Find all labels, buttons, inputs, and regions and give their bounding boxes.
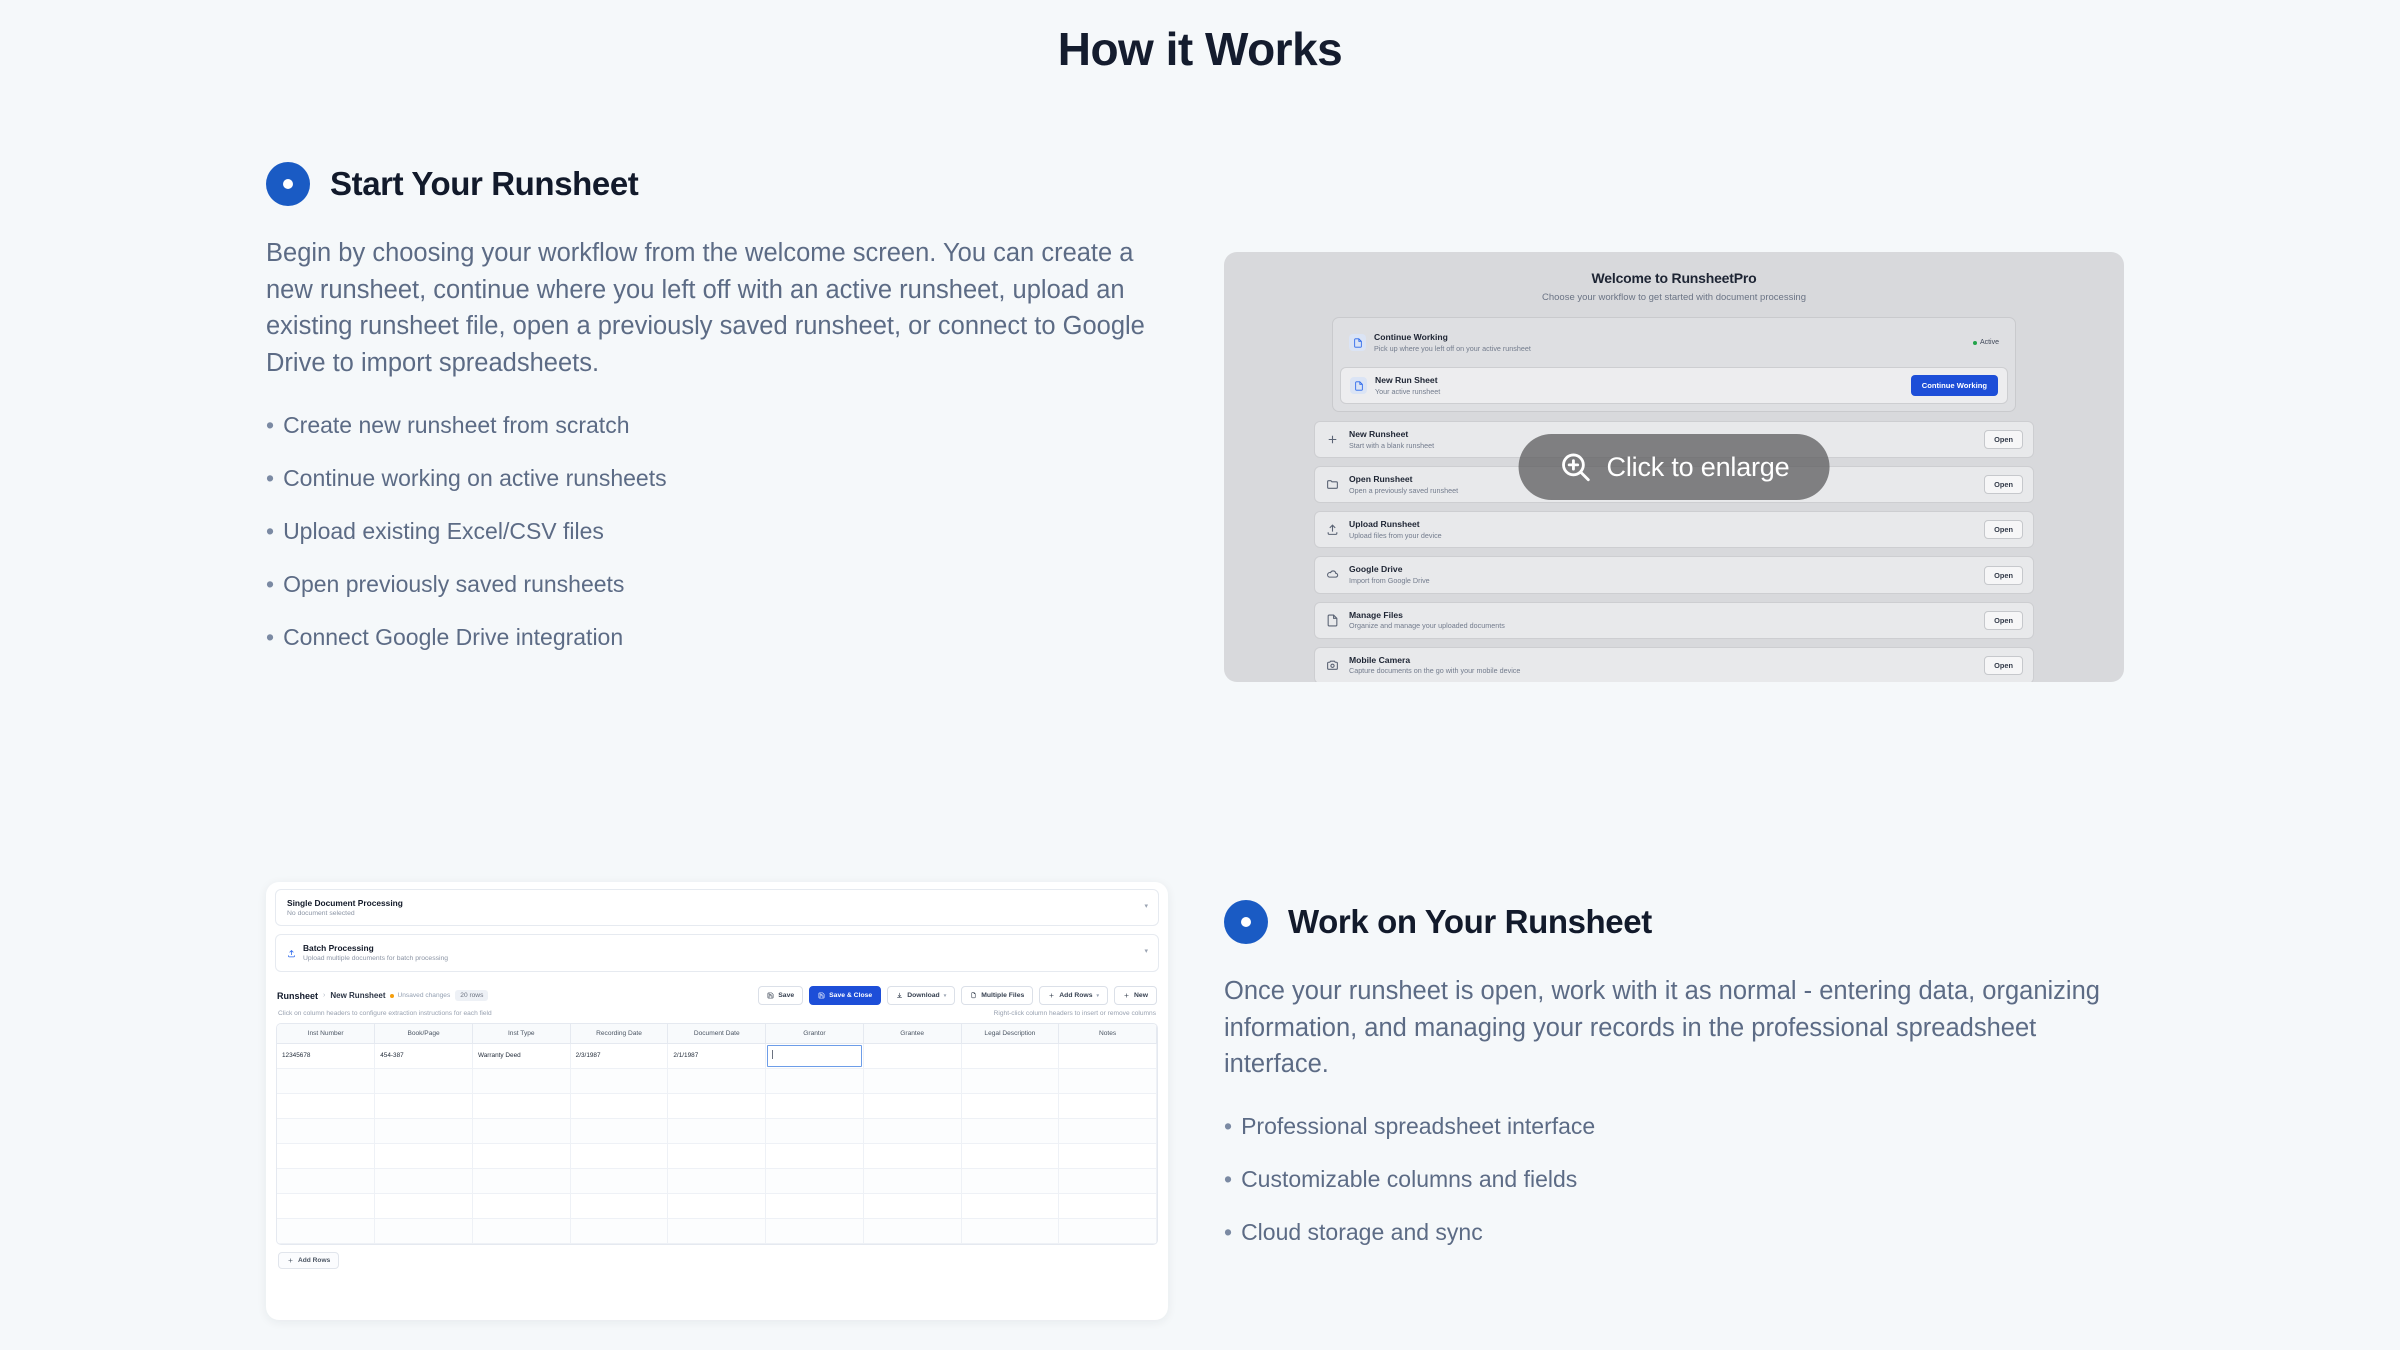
cell[interactable]	[472, 1068, 570, 1093]
cell[interactable]	[570, 1118, 668, 1143]
list-item: •Connect Google Drive integration	[266, 626, 1156, 649]
open-button[interactable]: Open	[1984, 520, 2023, 539]
option-title: Manage Files	[1349, 610, 1975, 621]
open-button[interactable]: Open	[1984, 566, 2023, 585]
cell[interactable]	[668, 1093, 766, 1118]
plus-icon	[1325, 433, 1340, 446]
welcome-subtitle: Choose your workflow to get started with…	[1224, 292, 2124, 303]
active-runsheet-name: New Run Sheet	[1375, 375, 1903, 386]
list-item-label: Upload existing Excel/CSV files	[283, 520, 604, 543]
download-button[interactable]: Download ▾	[887, 986, 955, 1005]
step-badge-icon	[1224, 900, 1268, 944]
enlarge-label: Click to enlarge	[1607, 452, 1790, 483]
column-header-inst-type[interactable]: Inst Type	[472, 1024, 570, 1043]
chevron-down-icon[interactable]: ▾	[1144, 947, 1148, 955]
list-item: •Continue working on active runsheets	[266, 467, 1156, 490]
document-icon	[1325, 614, 1340, 627]
camera-icon	[1325, 659, 1340, 672]
cell[interactable]: 454-387	[375, 1043, 473, 1068]
selected-cell[interactable]	[766, 1043, 864, 1068]
spreadsheet-screenshot-thumbnail[interactable]: Single Document Processing No document s…	[266, 882, 1168, 1320]
single-doc-title: Single Document Processing	[287, 898, 1147, 908]
runsheet-toolbar: Runsheet › New Runsheet Unsaved changes …	[266, 980, 1168, 1005]
cell[interactable]	[570, 1218, 668, 1243]
new-button[interactable]: New	[1114, 986, 1157, 1005]
cell[interactable]	[863, 1143, 961, 1168]
cell[interactable]	[668, 1143, 766, 1168]
cell[interactable]	[375, 1143, 473, 1168]
breadcrumb-separator: ›	[323, 992, 325, 999]
cell[interactable]	[277, 1118, 375, 1143]
save-icon	[767, 992, 774, 999]
cell[interactable]	[570, 1193, 668, 1218]
cell[interactable]	[863, 1093, 961, 1118]
batch-title: Batch Processing	[303, 943, 1147, 953]
cell[interactable]	[766, 1143, 864, 1168]
files-icon	[970, 992, 977, 999]
status-badge: Active	[1973, 339, 1999, 346]
option-title: Upload Runsheet	[1349, 519, 1975, 530]
table-row	[277, 1168, 1157, 1193]
cell[interactable]	[863, 1168, 961, 1193]
cell[interactable]	[570, 1143, 668, 1168]
open-button[interactable]: Open	[1984, 611, 2023, 630]
table-row	[277, 1118, 1157, 1143]
breadcrumb: Runsheet › New Runsheet Unsaved changes …	[277, 990, 758, 1001]
multiple-files-label: Multiple Files	[981, 992, 1024, 999]
download-label: Download	[907, 992, 939, 999]
cell[interactable]	[472, 1168, 570, 1193]
single-document-processing-card[interactable]: Single Document Processing No document s…	[275, 889, 1159, 926]
cell[interactable]	[766, 1093, 864, 1118]
unsaved-dot-icon	[390, 994, 394, 998]
column-header-grantor[interactable]: Grantor	[766, 1024, 864, 1043]
chevron-down-icon[interactable]: ▾	[1144, 902, 1148, 910]
active-runsheet-row[interactable]: New Run Sheet Your active runsheet Conti…	[1340, 367, 2008, 404]
table-hints: Click on column headers to configure ext…	[266, 1005, 1168, 1023]
cell[interactable]	[277, 1068, 375, 1093]
cell[interactable]	[472, 1118, 570, 1143]
document-icon	[1350, 377, 1367, 394]
step-feature-list: •Professional spreadsheet interface •Cus…	[1224, 1115, 2124, 1244]
save-button[interactable]: Save	[758, 986, 803, 1005]
list-item-label: Customizable columns and fields	[1241, 1168, 1577, 1191]
workflow-option-mobile-camera[interactable]: Mobile Camera Capture documents on the g…	[1314, 647, 2034, 682]
cell[interactable]	[961, 1193, 1059, 1218]
cell[interactable]	[863, 1218, 961, 1243]
cell[interactable]: 2/3/1987	[570, 1043, 668, 1068]
breadcrumb-root: Runsheet	[277, 991, 318, 1001]
add-rows-button[interactable]: Add Rows	[278, 1252, 339, 1269]
cell[interactable]	[863, 1193, 961, 1218]
cell[interactable]	[472, 1218, 570, 1243]
step-title: Work on Your Runsheet	[1288, 903, 1652, 941]
option-desc: Import from Google Drive	[1349, 576, 1975, 585]
list-item-label: Professional spreadsheet interface	[1241, 1115, 1595, 1138]
page-title: How it Works	[0, 0, 2400, 76]
step-description: Begin by choosing your workflow from the…	[266, 235, 1151, 382]
cell[interactable]	[668, 1218, 766, 1243]
cell[interactable]	[277, 1093, 375, 1118]
workflow-option-google-drive[interactable]: Google Drive Import from Google Drive Op…	[1314, 556, 2034, 593]
step-title: Start Your Runsheet	[330, 165, 638, 203]
cell[interactable]	[277, 1143, 375, 1168]
column-header-book-page[interactable]: Book/Page	[375, 1024, 473, 1043]
how-it-works-page: How it Works Start Your Runsheet Begin b…	[0, 0, 2400, 1350]
upload-icon	[287, 945, 296, 963]
active-runsheet-desc: Your active runsheet	[1375, 387, 1903, 396]
cell[interactable]	[961, 1168, 1059, 1193]
cell[interactable]	[472, 1143, 570, 1168]
step-work-on-your-runsheet: Work on Your Runsheet Once your runsheet…	[1224, 900, 2124, 1274]
cell[interactable]	[1059, 1093, 1157, 1118]
table-row	[277, 1143, 1157, 1168]
status-label: Active	[1980, 339, 1999, 346]
cell[interactable]	[277, 1218, 375, 1243]
status-dot-icon	[1973, 341, 1977, 345]
cell[interactable]	[961, 1118, 1059, 1143]
table-row	[277, 1093, 1157, 1118]
list-item-label: Cloud storage and sync	[1241, 1221, 1483, 1244]
welcome-title: Welcome to RunsheetPro	[1224, 270, 2124, 286]
step-header: Work on Your Runsheet	[1224, 900, 2124, 944]
cell[interactable]	[1059, 1118, 1157, 1143]
cell[interactable]	[570, 1168, 668, 1193]
save-button-label: Save	[778, 992, 794, 999]
cell[interactable]	[1059, 1068, 1157, 1093]
open-button[interactable]: Open	[1984, 656, 2023, 675]
save-and-close-button[interactable]: Save & Close	[809, 986, 881, 1005]
magnifier-plus-icon	[1559, 450, 1593, 484]
cell[interactable]	[472, 1193, 570, 1218]
table-row	[277, 1218, 1157, 1243]
cell[interactable]: 2/1/1987	[668, 1043, 766, 1068]
row-count-badge: 20 rows	[455, 990, 488, 1001]
table-row	[277, 1193, 1157, 1218]
new-label: New	[1134, 992, 1148, 999]
hint-right: Right-click column headers to insert or …	[994, 1010, 1156, 1017]
runsheet-table: Inst Number Book/Page Inst Type Recordin…	[276, 1023, 1158, 1245]
option-title: Google Drive	[1349, 564, 1975, 575]
open-button[interactable]: Open	[1984, 475, 2023, 494]
cell[interactable]	[375, 1068, 473, 1093]
column-header-recording-date[interactable]: Recording Date	[570, 1024, 668, 1043]
cell[interactable]	[766, 1218, 864, 1243]
upload-icon	[1325, 523, 1340, 536]
chevron-down-icon: ▾	[1097, 993, 1100, 999]
single-doc-subtitle: No document selected	[287, 910, 1147, 917]
list-item: •Professional spreadsheet interface	[1224, 1115, 2124, 1138]
cell[interactable]	[277, 1193, 375, 1218]
column-header-inst-number[interactable]: Inst Number	[277, 1024, 375, 1043]
cell[interactable]	[375, 1168, 473, 1193]
option-desc: Capture documents on the go with your mo…	[1349, 666, 1975, 675]
cell[interactable]	[961, 1043, 1059, 1068]
list-item: •Upload existing Excel/CSV files	[266, 520, 1156, 543]
continue-working-desc: Pick up where you left off on your activ…	[1374, 344, 1965, 353]
batch-processing-card[interactable]: Batch Processing Upload multiple documen…	[275, 934, 1159, 972]
table-row: 12345678 454-387 Warranty Deed 2/3/1987 …	[277, 1043, 1157, 1068]
list-item-label: Continue working on active runsheets	[283, 467, 667, 490]
step-feature-list: •Create new runsheet from scratch •Conti…	[266, 414, 1156, 649]
cell[interactable]	[863, 1043, 961, 1068]
continue-working-title: Continue Working	[1374, 332, 1965, 343]
workflow-option-upload-runsheet[interactable]: Upload Runsheet Upload files from your d…	[1314, 511, 2034, 548]
text-cursor-icon	[772, 1050, 773, 1059]
unsaved-label: Unsaved changes	[397, 992, 450, 999]
cell[interactable]: 12345678	[277, 1043, 375, 1068]
step-header: Start Your Runsheet	[266, 162, 1156, 206]
list-item: •Open previously saved runsheets	[266, 573, 1156, 596]
cell[interactable]	[472, 1093, 570, 1118]
cell[interactable]	[961, 1218, 1059, 1243]
plus-icon	[287, 1257, 294, 1264]
cell[interactable]	[1059, 1168, 1157, 1193]
cell[interactable]	[375, 1193, 473, 1218]
cell[interactable]	[1059, 1143, 1157, 1168]
list-item: •Cloud storage and sync	[1224, 1221, 2124, 1244]
table-row	[277, 1068, 1157, 1093]
batch-subtitle: Upload multiple documents for batch proc…	[303, 955, 1147, 962]
add-rows-toolbar-button[interactable]: Add Rows ▾	[1039, 986, 1108, 1005]
step-description: Once your runsheet is open, work with it…	[1224, 973, 2104, 1083]
multiple-files-button[interactable]: Multiple Files	[961, 986, 1033, 1005]
cell[interactable]	[375, 1093, 473, 1118]
cell[interactable]	[766, 1193, 864, 1218]
step-badge-icon	[266, 162, 310, 206]
unsaved-changes-badge: Unsaved changes	[390, 992, 450, 999]
open-button[interactable]: Open	[1984, 430, 2023, 449]
cell[interactable]	[961, 1143, 1059, 1168]
hint-left: Click on column headers to configure ext…	[278, 1010, 994, 1017]
cell[interactable]	[1059, 1193, 1157, 1218]
cell[interactable]	[766, 1168, 864, 1193]
continue-working-button[interactable]: Continue Working	[1911, 375, 1998, 396]
table-header-row: Inst Number Book/Page Inst Type Recordin…	[277, 1024, 1157, 1043]
option-title: Mobile Camera	[1349, 655, 1975, 666]
cell[interactable]	[961, 1093, 1059, 1118]
column-header-notes[interactable]: Notes	[1059, 1024, 1157, 1043]
workflow-option-manage-files[interactable]: Manage Files Organize and manage your up…	[1314, 602, 2034, 639]
cell[interactable]: Warranty Deed	[472, 1043, 570, 1068]
cloud-icon	[1325, 569, 1340, 582]
list-item-label: Create new runsheet from scratch	[283, 414, 629, 437]
add-rows-button-label: Add Rows	[298, 1257, 330, 1264]
cell[interactable]	[766, 1068, 864, 1093]
plus-icon	[1048, 992, 1055, 999]
cell[interactable]	[375, 1118, 473, 1143]
toolbar-buttons: Save Save & Close Download ▾ Multiple Fi…	[758, 986, 1157, 1005]
cell[interactable]	[863, 1118, 961, 1143]
folder-icon	[1325, 478, 1340, 491]
save-and-close-label: Save & Close	[829, 992, 872, 999]
cell[interactable]	[570, 1093, 668, 1118]
column-header-document-date[interactable]: Document Date	[668, 1024, 766, 1043]
cell[interactable]	[570, 1068, 668, 1093]
column-header-legal-description[interactable]: Legal Description	[961, 1024, 1059, 1043]
cell[interactable]	[1059, 1218, 1157, 1243]
breadcrumb-current: New Runsheet	[330, 991, 385, 1000]
cell[interactable]	[766, 1118, 864, 1143]
cell[interactable]	[668, 1118, 766, 1143]
column-header-grantee[interactable]: Grantee	[863, 1024, 961, 1043]
cell[interactable]	[277, 1168, 375, 1193]
plus-icon	[1123, 992, 1130, 999]
list-item: •Create new runsheet from scratch	[266, 414, 1156, 437]
list-item-label: Connect Google Drive integration	[283, 626, 623, 649]
step-start-your-runsheet: Start Your Runsheet Begin by choosing yo…	[266, 162, 1156, 679]
cell[interactable]	[668, 1168, 766, 1193]
chevron-down-icon: ▾	[944, 993, 947, 999]
welcome-screenshot-thumbnail[interactable]: Welcome to RunsheetPro Choose your workf…	[1224, 252, 2124, 682]
save-icon	[818, 992, 825, 999]
cell[interactable]	[863, 1068, 961, 1093]
add-rows-label: Add Rows	[1059, 992, 1092, 999]
option-desc: Upload files from your device	[1349, 531, 1975, 540]
list-item: •Customizable columns and fields	[1224, 1168, 2124, 1191]
document-icon	[1349, 334, 1366, 351]
cell[interactable]	[1059, 1043, 1157, 1068]
list-item-label: Open previously saved runsheets	[283, 573, 624, 596]
continue-working-header: Continue Working Pick up where you left …	[1340, 325, 2008, 360]
download-icon	[896, 992, 903, 999]
cell[interactable]	[961, 1068, 1059, 1093]
click-to-enlarge-overlay[interactable]: Click to enlarge	[1519, 434, 1830, 500]
cell[interactable]	[668, 1193, 766, 1218]
cell[interactable]	[375, 1218, 473, 1243]
option-desc: Organize and manage your uploaded docume…	[1349, 621, 1975, 630]
cell[interactable]	[668, 1068, 766, 1093]
continue-working-panel: Continue Working Pick up where you left …	[1332, 317, 2016, 412]
